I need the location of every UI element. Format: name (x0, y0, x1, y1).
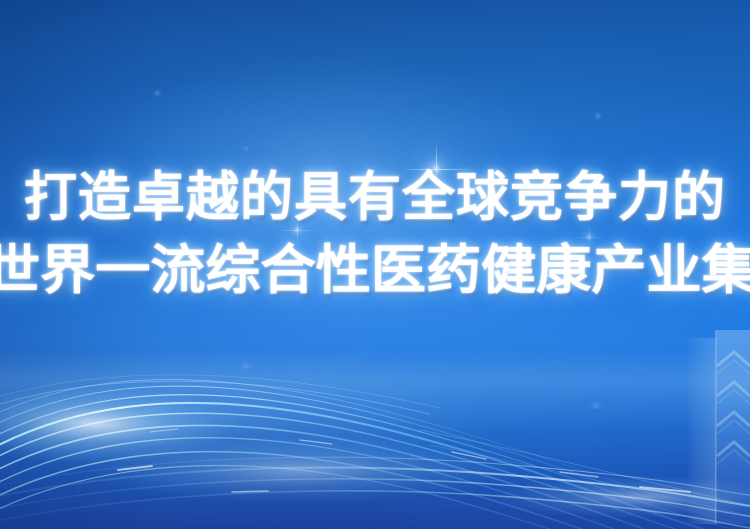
headline-line-1: 打造卓越的具有全球竞争力的 (0, 172, 750, 225)
slogan-banner: 打造卓越的具有全球竞争力的 世界一流综合性医药健康产业集团 (0, 0, 750, 529)
soft-light-dot (594, 112, 602, 120)
headline-block: 打造卓越的具有全球竞争力的 世界一流综合性医药健康产业集团 (0, 172, 750, 298)
headline-line-2: 世界一流综合性医药健康产业集团 (0, 245, 750, 298)
soft-light-dot (153, 90, 162, 96)
soft-light-dot (238, 363, 254, 369)
soft-light-dot (243, 146, 250, 151)
soft-light-dot (589, 402, 603, 409)
